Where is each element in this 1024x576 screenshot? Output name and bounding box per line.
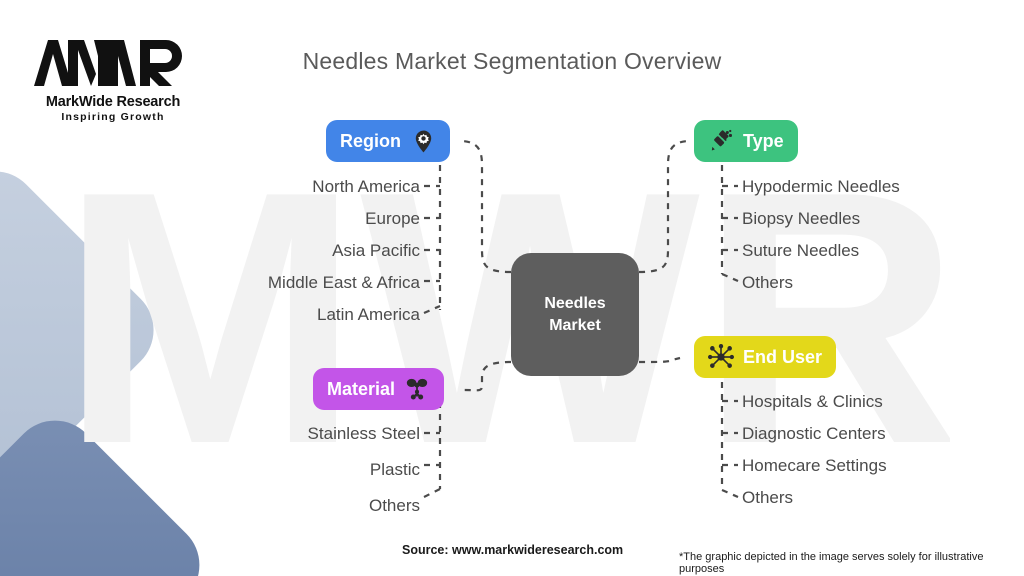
- tick-type-3: [722, 274, 738, 281]
- molecule-icon: [404, 376, 430, 402]
- source-note: Source: www.markwideresearch.com: [402, 543, 623, 557]
- center-node-label: Needles Market: [544, 293, 605, 336]
- leaf-item: Plastic: [370, 461, 420, 478]
- leaf-item: Hypodermic Needles: [742, 178, 900, 195]
- leaf-list-type: Hypodermic Needles Biopsy Needles Suture…: [742, 178, 900, 306]
- leaf-item: Others: [742, 274, 793, 291]
- leaf-list-region: North America Europe Asia Pacific Middle…: [120, 178, 420, 338]
- leaf-item: Others: [742, 489, 793, 506]
- tick-enduser-3: [722, 490, 738, 497]
- leaf-list-enduser: Hospitals & Clinics Diagnostic Centers H…: [742, 393, 887, 521]
- tick-region-4: [424, 306, 440, 313]
- syringe-icon: [708, 128, 734, 154]
- leaf-item: Biopsy Needles: [742, 210, 860, 227]
- page-title: Needles Market Segmentation Overview: [0, 48, 1024, 75]
- branch-label-type: Type: [743, 131, 784, 152]
- branch-label-region: Region: [340, 131, 401, 152]
- logo-tagline: Inspiring Growth: [61, 111, 164, 123]
- leaf-item: North America: [312, 178, 420, 195]
- branch-label-material: Material: [327, 379, 395, 400]
- branch-node-material[interactable]: Material: [313, 368, 444, 410]
- center-node-line-1: Needles: [544, 295, 605, 312]
- branch-node-type[interactable]: Type: [694, 120, 798, 162]
- branch-node-region[interactable]: Region: [326, 120, 450, 162]
- branch-label-enduser: End User: [743, 347, 822, 368]
- connector-center-enduser: [639, 358, 680, 362]
- disclaimer-note: *The graphic depicted in the image serve…: [679, 551, 1024, 575]
- company-logo: MarkWide Research Inspiring Growth: [28, 30, 198, 125]
- leaf-item: Latin America: [317, 306, 420, 323]
- leaf-item: Homecare Settings: [742, 457, 887, 474]
- leaf-item: Hospitals & Clinics: [742, 393, 883, 410]
- infographic-canvas: MWR MarkWide Research Inspiring Growth N…: [0, 0, 1024, 576]
- network-hub-icon: [708, 344, 734, 370]
- connector-center-type: [639, 141, 688, 272]
- location-pin-gear-icon: [410, 128, 436, 154]
- tick-material-2: [424, 489, 440, 497]
- center-node-needles-market[interactable]: Needles Market: [511, 253, 639, 376]
- leaf-item: Stainless Steel: [308, 425, 420, 442]
- leaf-list-material: Stainless Steel Plastic Others: [120, 425, 420, 533]
- leaf-item: Others: [369, 497, 420, 514]
- leaf-item: Asia Pacific: [332, 242, 420, 259]
- connector-center-region: [462, 141, 511, 272]
- leaf-item: Europe: [365, 210, 420, 227]
- leaf-item: Middle East & Africa: [268, 274, 420, 291]
- center-node-line-2: Market: [549, 317, 601, 334]
- leaf-item: Diagnostic Centers: [742, 425, 886, 442]
- connector-center-material: [464, 362, 511, 390]
- logo-company-name: MarkWide Research: [46, 94, 180, 110]
- branch-node-enduser[interactable]: End User: [694, 336, 836, 378]
- leaf-item: Suture Needles: [742, 242, 859, 259]
